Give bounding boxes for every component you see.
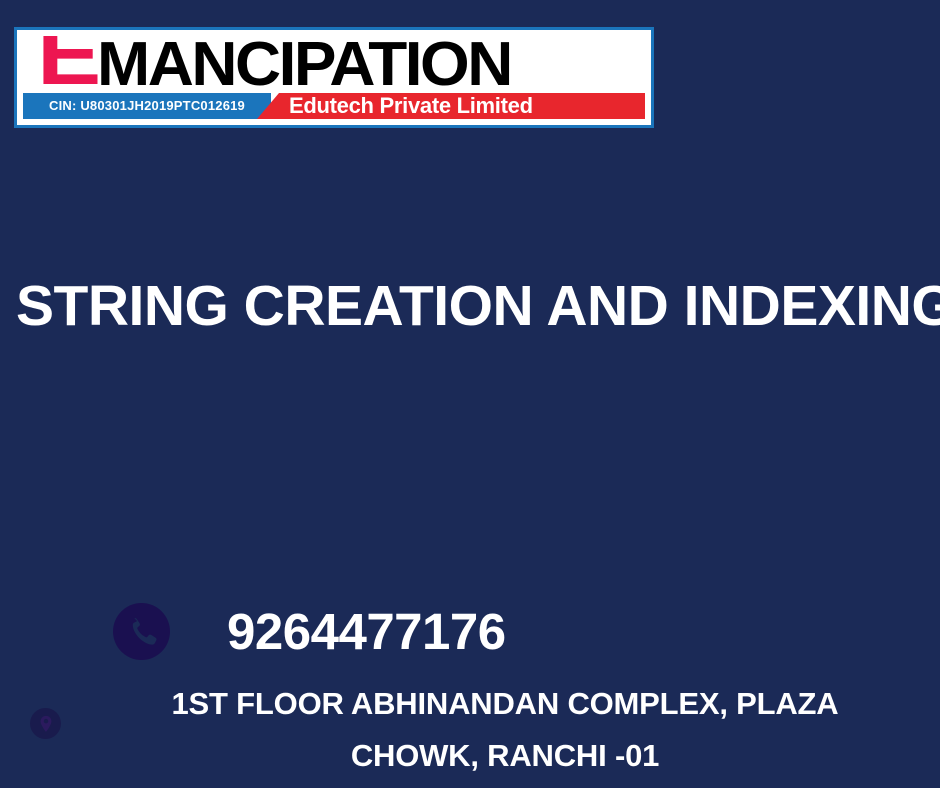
slide-canvas: E MANCIPATION CIN: U80301JH2019PTC012619… [0,0,940,788]
company-logo: E MANCIPATION CIN: U80301JH2019PTC012619… [14,27,654,128]
logo-bottom-bar: CIN: U80301JH2019PTC012619 Edutech Priva… [17,93,651,119]
logo-initial-glyph: E [37,36,99,86]
logo-wordmark: E MANCIPATION [17,30,651,96]
phone-number: 9264477176 [227,603,506,660]
phone-contact-row: 9264477176 [113,603,506,660]
logo-tagline-text: Edutech Private Limited [289,93,533,119]
logo-brand-text: MANCIPATION [97,32,511,96]
map-pin-icon [30,708,61,739]
page-title: STRING CREATION AND INDEXING [16,273,928,339]
address-line-2: CHOWK, RANCHI -01 [90,730,920,782]
address-line-1: 1ST FLOOR ABHINANDAN COMPLEX, PLAZA [90,678,920,730]
address-block: 1ST FLOOR ABHINANDAN COMPLEX, PLAZA CHOW… [90,678,920,782]
logo-tagline-band: Edutech Private Limited [257,93,645,119]
phone-icon [113,603,170,660]
logo-cin-number: CIN: U80301JH2019PTC012619 [23,93,271,119]
